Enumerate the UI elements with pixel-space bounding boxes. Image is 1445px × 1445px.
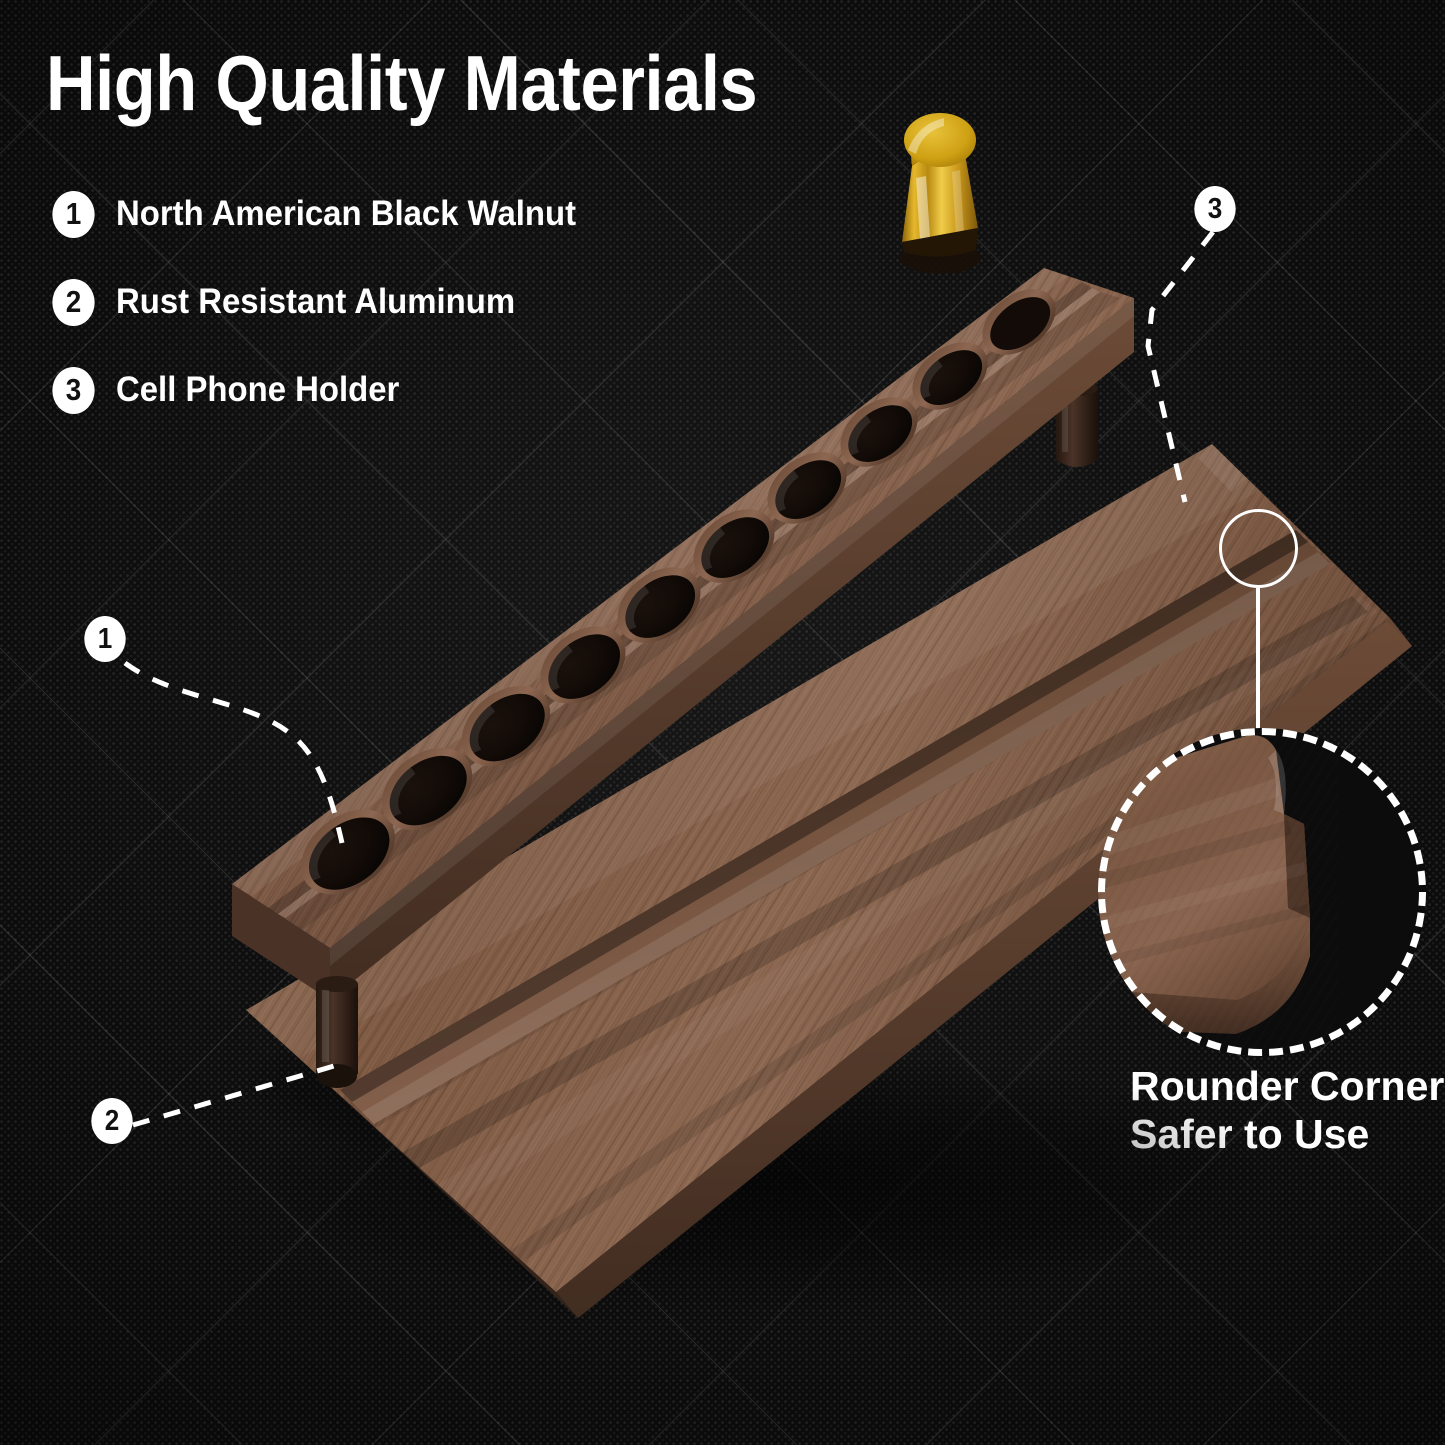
aluminum-support-pin-front [316, 976, 358, 1088]
callout-marker-2: 2 [91, 1098, 132, 1144]
detail-indicator-circle [1219, 509, 1298, 588]
brass-bit [900, 113, 980, 274]
magnifier-dashed-ring [1098, 728, 1426, 1056]
infographic-canvas: High Quality Materials 1 North American … [0, 0, 1445, 1445]
callout-marker-1: 1 [84, 616, 125, 662]
callout-marker-3: 3 [1194, 186, 1235, 232]
